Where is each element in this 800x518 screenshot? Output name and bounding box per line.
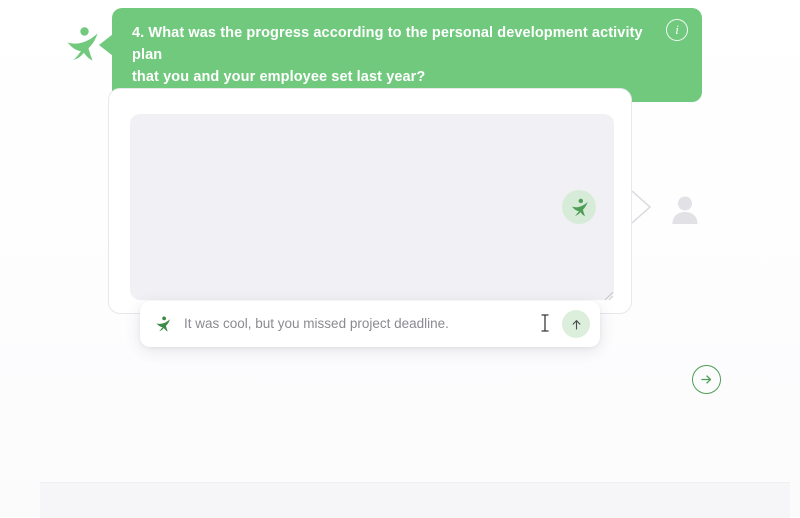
- bottom-panel: [40, 482, 790, 518]
- avatar: [562, 190, 596, 224]
- send-button[interactable]: [562, 310, 590, 338]
- chevron-right-icon: [631, 190, 653, 224]
- user-avatar-icon: [668, 192, 702, 226]
- app-stage: 4. What was the progress according to th…: [0, 0, 800, 517]
- person-figure-icon: [154, 315, 172, 333]
- resize-grip-icon[interactable]: [602, 288, 614, 300]
- next-button[interactable]: [692, 365, 721, 394]
- answer-textarea[interactable]: [130, 114, 614, 300]
- suggestion-input-bar[interactable]: It was cool, but you missed project dead…: [140, 301, 600, 347]
- info-icon[interactable]: i: [666, 19, 688, 41]
- text-ibeam-cursor: [539, 313, 551, 333]
- question-text: 4. What was the progress according to th…: [132, 22, 644, 88]
- suggestion-text: It was cool, but you missed project dead…: [184, 315, 536, 333]
- question-row: 4. What was the progress according to th…: [62, 8, 702, 88]
- person-figure-icon: [62, 24, 102, 64]
